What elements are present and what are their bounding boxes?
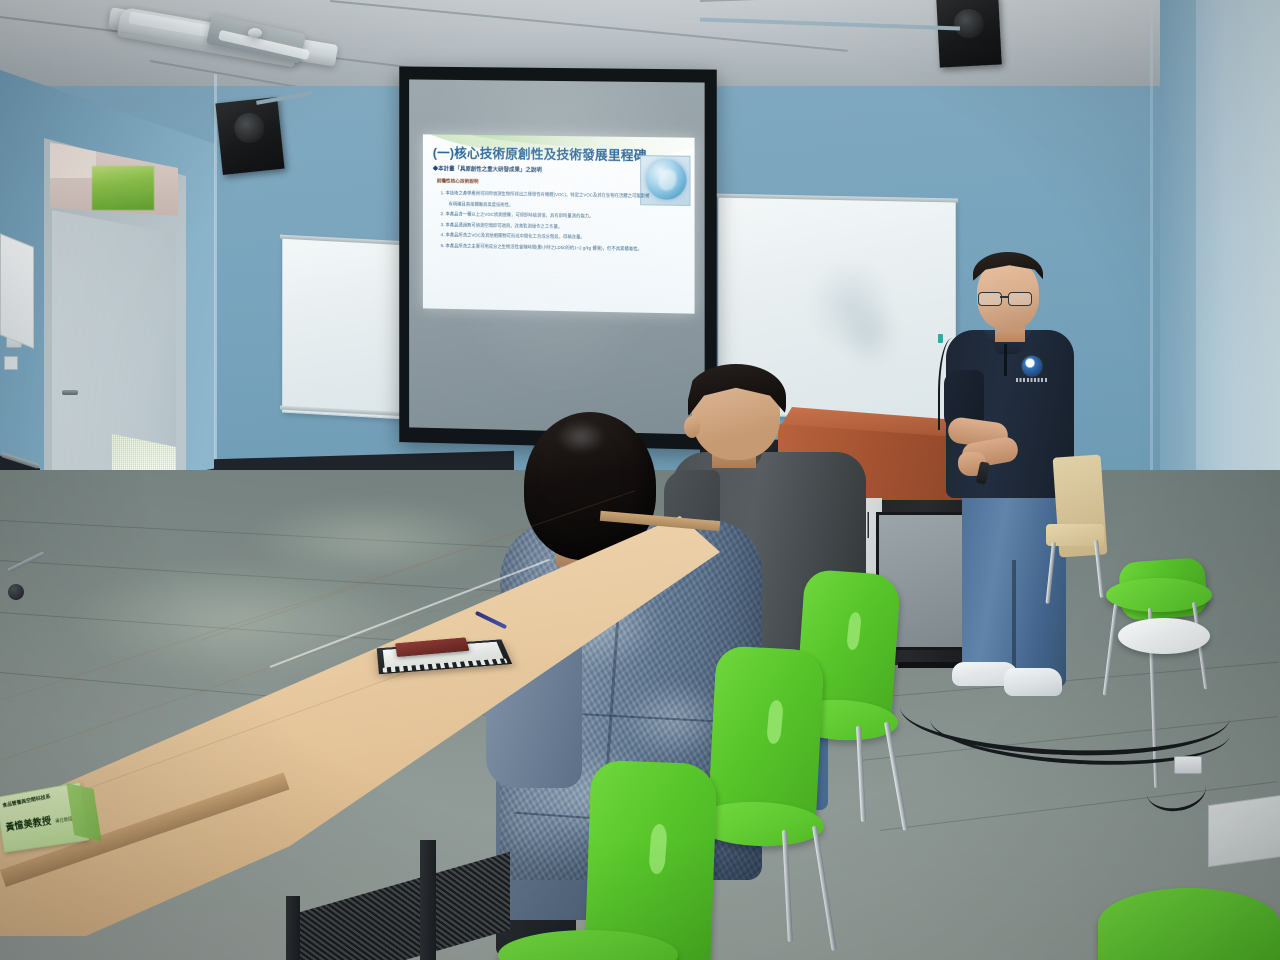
table-leg — [286, 896, 300, 960]
slide: (一)核心技術原創性及技術發展里程碑 ◆本計畫「具原創性之重大研發成果」之說明 … — [423, 134, 695, 313]
transom-foliage — [92, 166, 154, 210]
wall-notice — [1208, 795, 1280, 867]
slide-lead-bullet: ◆本計畫「具原創性之重大研發成果」之說明 — [433, 164, 632, 175]
hair-highlight — [556, 420, 606, 454]
slide-bullet-item: 3. 本產品透過無可偵測空間即可適用，改善監測操作之工作量。 — [441, 221, 687, 232]
slide-bullet-item: 5. 本產品所含之主要可用成分之生物活性會隨時間(數小時之LD50的約1~2 g… — [441, 242, 687, 254]
power-outlet[interactable] — [4, 356, 18, 370]
attendee-man-ear — [684, 416, 700, 438]
speaker-cone — [233, 112, 266, 145]
name-card-name: 黃憶美教授 — [5, 813, 53, 834]
projection-screen-surface: (一)核心技術原創性及技術發展里程碑 ◆本計畫「具原創性之重大研發成果」之說明 … — [409, 79, 705, 434]
wall-corner-seam — [214, 74, 217, 504]
eyeglasses-lens — [978, 292, 1002, 306]
presentation-room-photo: (一)核心技術原創性及技術發展里程碑 ◆本計畫「具原創性之重大研發成果」之說明 … — [0, 0, 1280, 960]
slide-bullet-item: 有明確且直接關聯具高度技術性。 — [441, 200, 687, 211]
slide-bullet-list: 1. 本技術之產學應用可同時偵測生物所排出之揮發性有機體(VOC)，特定之VOC… — [441, 189, 687, 257]
slide-sub-heading: 前瞻性核心技術說明 — [437, 178, 646, 187]
wall-speaker-left — [215, 97, 284, 175]
presenter-placket — [1004, 344, 1007, 376]
presenter-shirt-logo-text — [1016, 378, 1048, 382]
podium-foot — [898, 662, 960, 668]
slide-bullet-item: 2. 本產品含一種以上之VOC偵測感聲，可得即時檢測值，具有即時量測的能力。 — [441, 210, 687, 221]
name-card-title: 專任教授 — [55, 816, 73, 825]
presenter-shirt-logo — [1022, 356, 1042, 376]
green-chair-seat[interactable] — [1098, 888, 1280, 960]
floor-reflection — [240, 500, 500, 580]
eyeglasses-bridge — [1000, 296, 1009, 298]
whiteboard-left — [282, 237, 406, 420]
eyeglasses-lens — [1008, 292, 1032, 306]
name-card-organization: 食品營養與空間科技系 — [2, 793, 51, 809]
slide-title: (一)核心技術原創性及技術發展里程碑 — [433, 142, 674, 164]
speaker-cone — [953, 8, 984, 39]
table-leg — [420, 840, 436, 960]
globe-landmass — [658, 169, 676, 190]
light-end-cap — [248, 28, 262, 38]
whiteboard-magnet — [938, 334, 943, 343]
door-handle[interactable] — [62, 390, 78, 395]
white-stool-seat[interactable] — [1118, 618, 1210, 654]
whiteboard-smudge — [840, 300, 900, 370]
wall-sign — [0, 233, 34, 349]
wall-speaker-right — [936, 0, 1002, 68]
cart-wheel — [8, 584, 24, 600]
projection-screen: (一)核心技術原創性及技術發展里程碑 ◆本計畫「具原創性之重大研發成果」之說明 … — [399, 66, 717, 450]
slide-bullet-item: 4. 本產品所含之VOC及其他相關物可形成中間化工合成分階段，得稱含量。 — [441, 231, 687, 243]
